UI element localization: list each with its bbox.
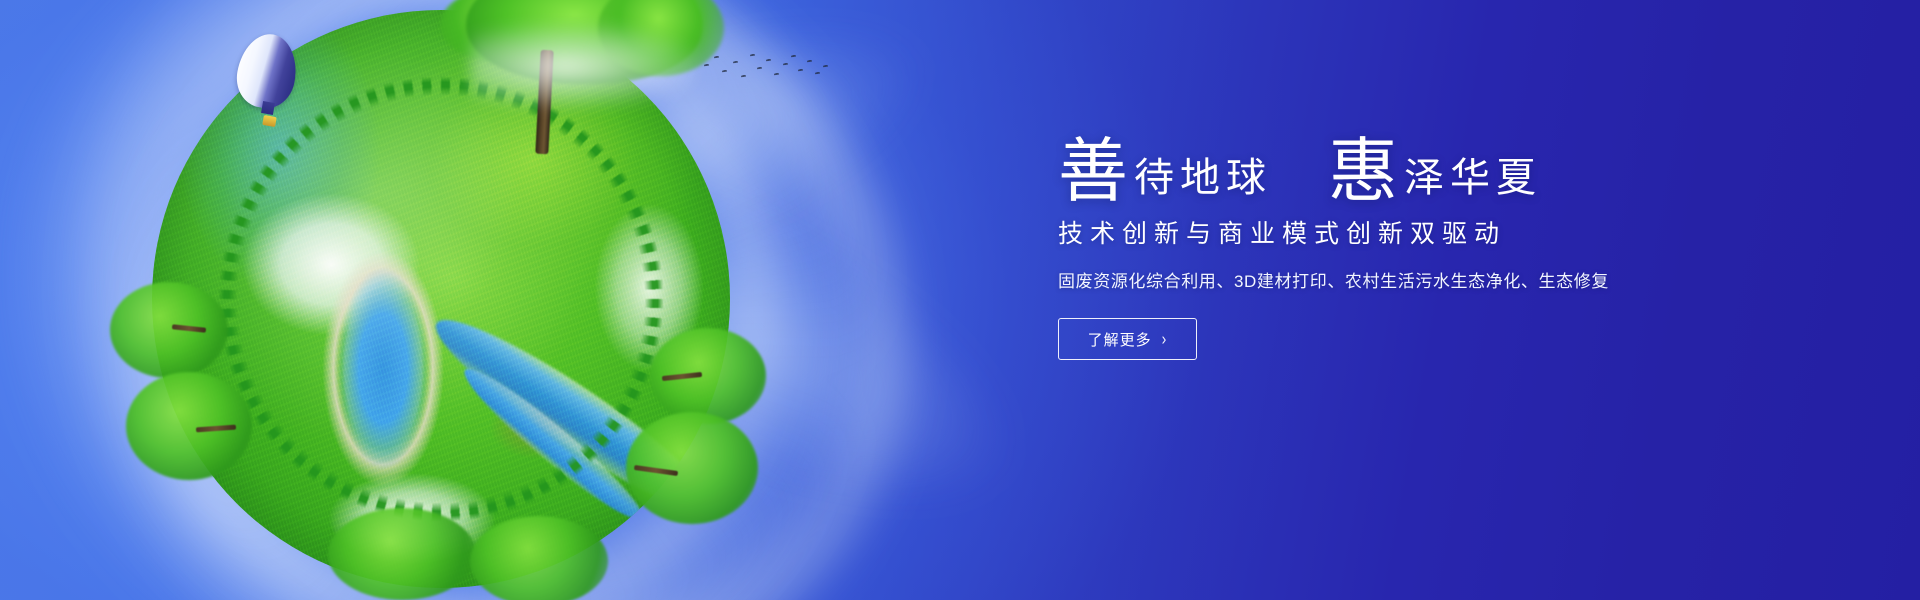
balloon-neck	[261, 101, 275, 115]
hero-tree	[430, 0, 710, 154]
page-title: 善 待地球 惠 泽华夏	[1058, 132, 1818, 202]
headline-group-1: 善 待地球	[1058, 132, 1272, 202]
bird-flock-icon	[700, 50, 830, 94]
hero-banner: 善 待地球 惠 泽华夏 技术创新与商业模式创新双驱动 固废资源化综合利用、3D建…	[0, 0, 1920, 600]
banner-content: 善 待地球 惠 泽华夏 技术创新与商业模式创新双驱动 固废资源化综合利用、3D建…	[1058, 132, 1818, 360]
headline-big-2: 惠	[1328, 136, 1398, 206]
headline-group-2: 惠 泽华夏	[1328, 132, 1542, 202]
tree-mist	[470, 24, 696, 108]
banner-description: 固废资源化综合利用、3D建材打印、农村生活污水生态净化、生态修复	[1058, 269, 1818, 295]
banner-subtitle: 技术创新与商业模式创新双驱动	[1058, 218, 1818, 251]
headline-big-1: 善	[1058, 136, 1128, 206]
balloon-envelope	[232, 30, 302, 113]
headline-small-2: 泽华夏	[1404, 158, 1542, 198]
chevron-right-icon: ›	[1162, 329, 1168, 347]
hot-air-balloon-icon	[238, 34, 300, 138]
balloon-basket	[262, 115, 277, 127]
headline-small-1: 待地球	[1134, 158, 1272, 198]
learn-more-label: 了解更多	[1088, 329, 1152, 350]
learn-more-button[interactable]: 了解更多 ›	[1058, 318, 1197, 360]
